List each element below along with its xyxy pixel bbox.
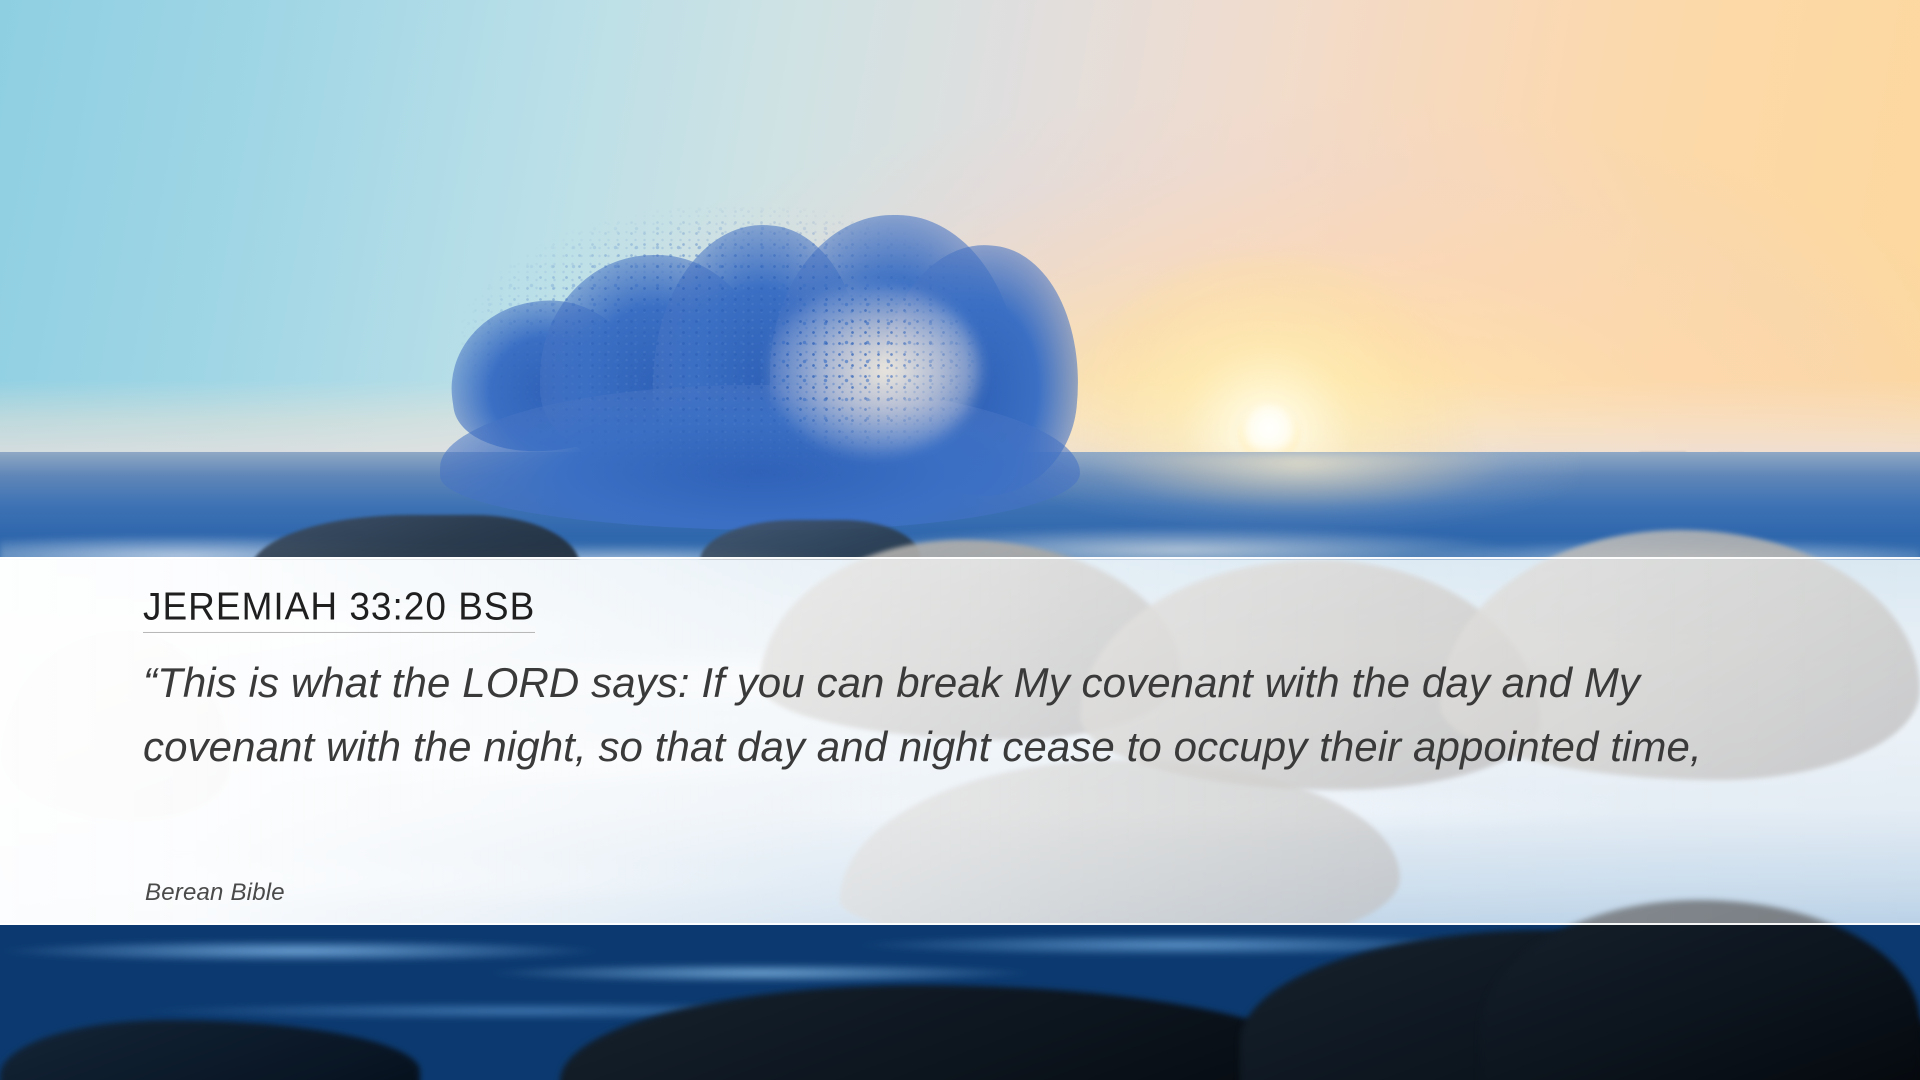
- verse-image-card: JEREMIAH 33:20 BSB “This is what the LOR…: [0, 0, 1920, 1080]
- splash-droplets: [430, 195, 1070, 515]
- verse-attribution: Berean Bible: [145, 879, 285, 907]
- verse-reference: JEREMIAH 33:20 BSB: [143, 587, 535, 633]
- verse-text-block: JEREMIAH 33:20 BSB “This is what the LOR…: [143, 559, 1783, 923]
- verse-overlay-band: JEREMIAH 33:20 BSB “This is what the LOR…: [0, 557, 1920, 925]
- wave-splash: [440, 215, 1060, 515]
- verse-quote-text: “This is what the LORD says: If you can …: [143, 651, 1743, 779]
